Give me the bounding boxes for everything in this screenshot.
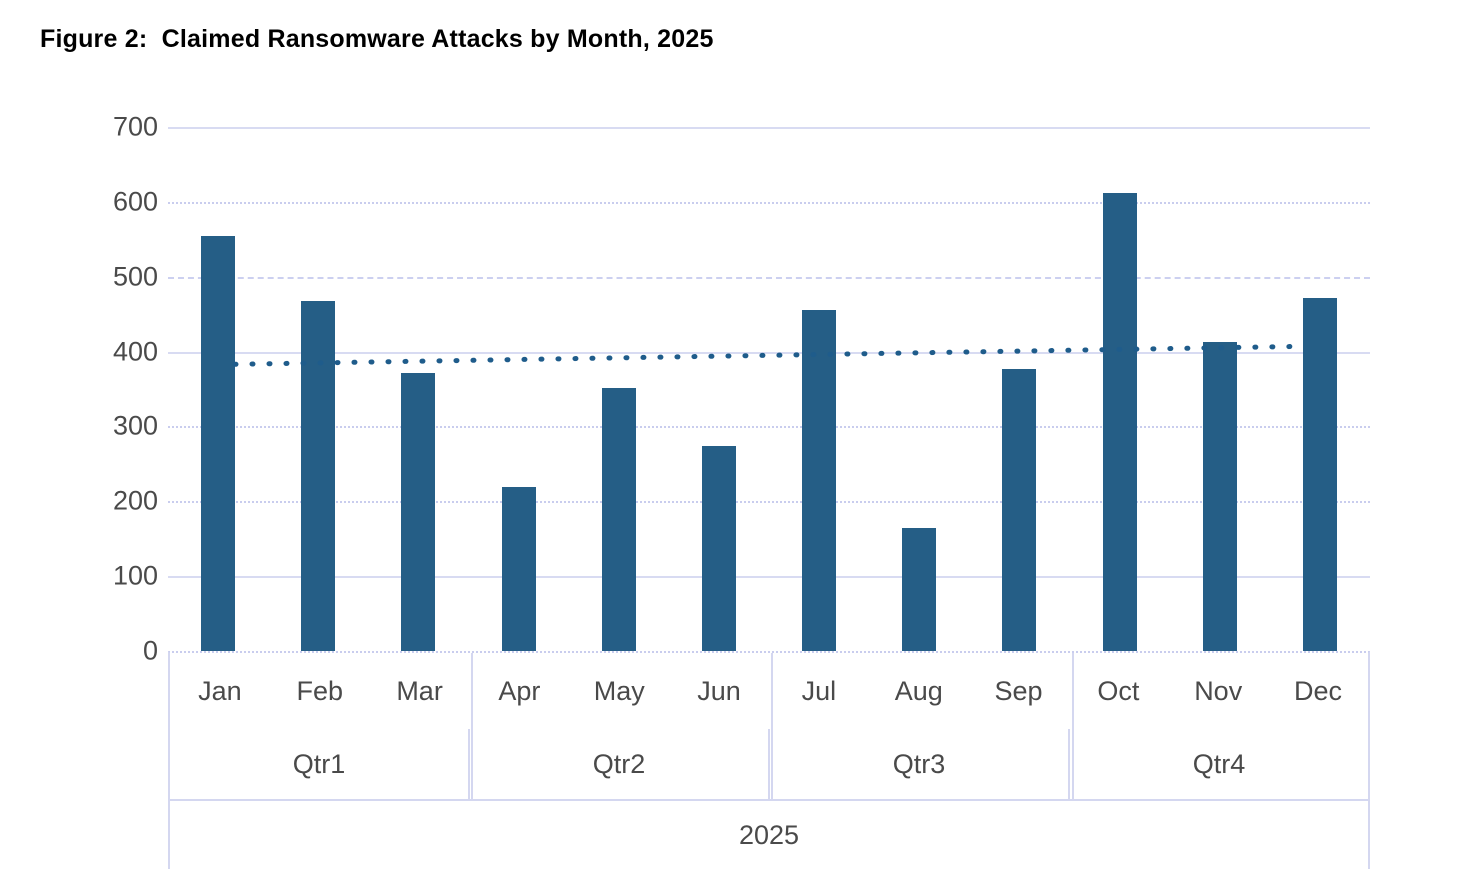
quarter-labels-row: Qtr1Qtr2Qtr3Qtr4	[170, 729, 1368, 799]
trendline	[168, 127, 1370, 651]
quarter-label-qtr1: Qtr1	[170, 729, 468, 799]
quarter-label-qtr3: Qtr3	[768, 729, 1068, 799]
y-axis-tick-labels: 7006005004003002001000	[60, 127, 158, 651]
figure-container: Figure 2: Claimed Ransomware Attacks by …	[0, 0, 1480, 884]
month-label-jul: Jul	[769, 653, 869, 729]
trendline-path	[235, 346, 1303, 364]
month-label-jun: Jun	[669, 653, 769, 729]
month-label-oct: Oct	[1068, 653, 1168, 729]
month-label-aug: Aug	[869, 653, 969, 729]
month-label-may: May	[569, 653, 669, 729]
month-label-apr: Apr	[469, 653, 569, 729]
y-tick-label-400: 400	[113, 336, 158, 367]
y-tick-label-500: 500	[113, 261, 158, 292]
y-tick-label-200: 200	[113, 486, 158, 517]
plot-area	[168, 127, 1370, 651]
month-label-feb: Feb	[270, 653, 370, 729]
y-tick-label-700: 700	[113, 112, 158, 143]
quarter-label-qtr2: Qtr2	[468, 729, 768, 799]
month-label-sep: Sep	[969, 653, 1069, 729]
quarter-label-qtr4: Qtr4	[1068, 729, 1368, 799]
month-label-jan: Jan	[170, 653, 270, 729]
month-label-dec: Dec	[1268, 653, 1368, 729]
y-tick-label-0: 0	[143, 636, 158, 667]
category-axis-table: JanFebMarAprMayJunJulAugSepOctNovDec Qtr…	[168, 651, 1370, 869]
y-tick-label-100: 100	[113, 561, 158, 592]
month-labels-row: JanFebMarAprMayJunJulAugSepOctNovDec	[170, 653, 1368, 729]
y-tick-label-300: 300	[113, 411, 158, 442]
y-tick-label-600: 600	[113, 186, 158, 217]
year-label: 2025	[170, 799, 1368, 869]
figure-title: Figure 2: Claimed Ransomware Attacks by …	[40, 25, 714, 54]
month-label-nov: Nov	[1168, 653, 1268, 729]
month-label-mar: Mar	[370, 653, 470, 729]
